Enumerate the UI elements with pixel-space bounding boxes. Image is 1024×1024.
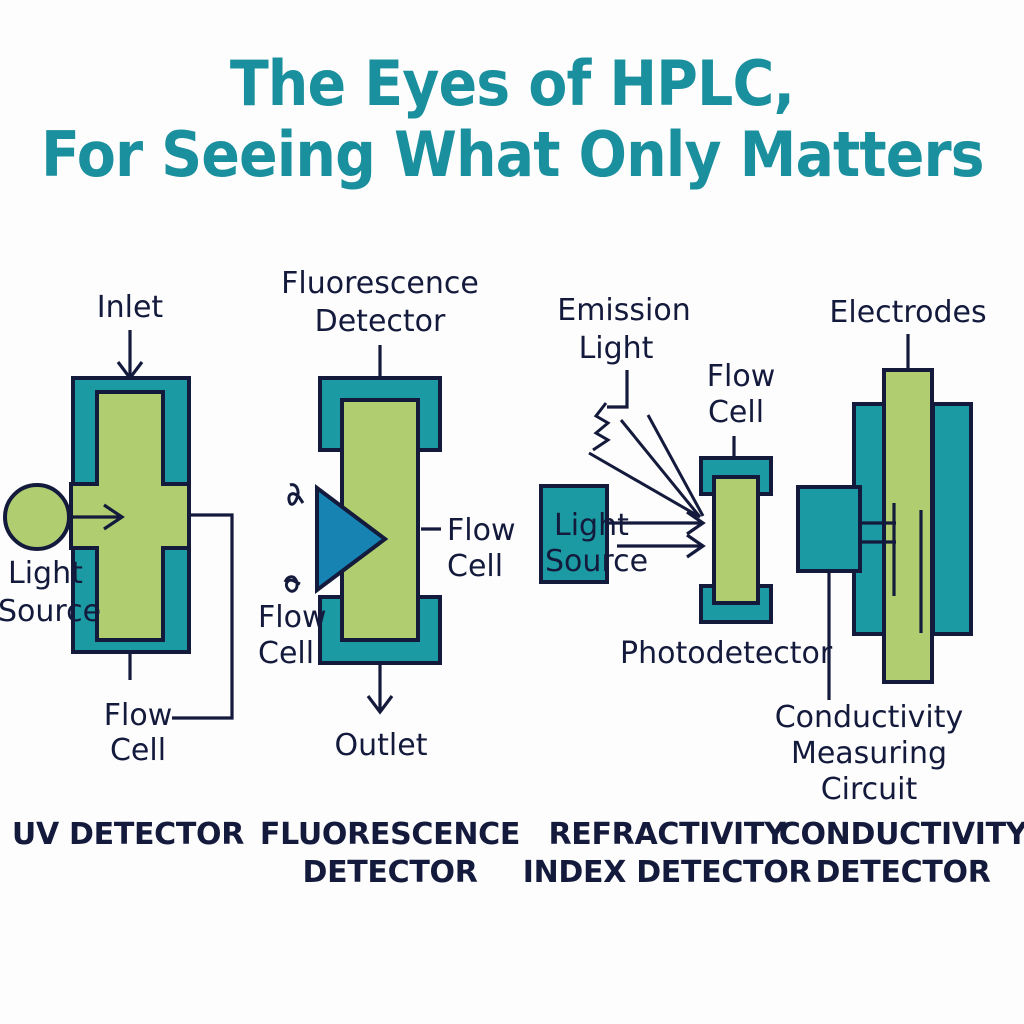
uv-light-source-label-line1: Light [8,556,83,591]
ri-light-source-label-line2: Source [545,544,648,579]
conductivity-circuit-label-line2: Measuring [791,736,947,771]
panel-uv-detector: Inlet Light Source Flow Cell [0,290,232,768]
fluorescence-title-line1: Fluorescence [281,266,479,301]
uv-inlet-label: Inlet [97,290,164,325]
ri-photodetector-label: Photodetector [620,636,833,671]
diagram-canvas: The Eyes of HPLC, For Seeing What Only M… [0,0,1024,1024]
caption-conductivity-line1: CONDUCTIVITY [779,817,1024,852]
conductivity-right-plate [933,404,971,634]
panel-fluorescence-detector: Fluorescence Detector Flow Cell Flow Cel… [258,266,515,763]
ri-light-source-label-line1: Light [554,508,629,543]
fluorescence-wave-upper-icon [289,485,303,505]
panel-conductivity-detector: Electrodes Conductivity Measuring Circui… [775,295,987,807]
ri-emission-label-line2: Light [579,331,654,366]
ri-flow-cell-body [714,477,758,603]
fluorescence-flow-cell-left-line1: Flow [258,600,326,635]
conductivity-circuit-label-line1: Conductivity [775,700,964,735]
ri-flow-cell-label-line1: Flow [707,359,775,394]
caption-fluorescence-line1: FLUORESCENCE [260,817,520,852]
uv-flow-cell-label-line1: Flow [104,698,172,733]
conductivity-measuring-circuit-box [798,487,860,571]
conductivity-circuit-label-line3: Circuit [821,772,918,807]
conductivity-electrodes-label: Electrodes [829,295,986,330]
caption-refractivity-line1: REFRACTIVITY [548,817,787,852]
panel-refractivity-index-detector: Emission Light Light Source Flow Cell [541,293,833,671]
conductivity-flow-cell-body [884,370,932,682]
ri-emission-leader [607,370,627,407]
detectors-illustration: Inlet Light Source Flow Cell Fluorescenc… [0,0,1024,1024]
fluorescence-flow-cell-left-line2: Cell [258,636,314,671]
uv-light-source-label-line2: Source [0,594,101,629]
ri-emission-zigzag-icon [593,403,608,450]
ri-emission-ray-2 [621,420,700,517]
ri-flow-cell-label-line2: Cell [708,395,764,430]
uv-light-source-lamp [5,485,69,549]
caption-fluorescence-line2: DETECTOR [302,855,477,890]
fluorescence-title-line2: Detector [315,304,446,339]
fluorescence-outlet-label: Outlet [335,728,428,763]
ri-emission-label-line1: Emission [557,293,690,328]
fluorescence-flow-cell-right-line2: Cell [447,549,503,584]
panel-captions: UV DETECTOR FLUORESCENCE DETECTOR REFRAC… [12,817,1024,890]
uv-flow-cell-label-line2: Cell [110,733,166,768]
caption-refractivity-line2: INDEX DETECTOR [523,855,812,890]
caption-uv-detector: UV DETECTOR [12,817,244,852]
fluorescence-wave-lower-icon [285,577,300,591]
fluorescence-flow-cell-right-line1: Flow [447,513,515,548]
caption-conductivity-line2: DETECTOR [815,855,990,890]
